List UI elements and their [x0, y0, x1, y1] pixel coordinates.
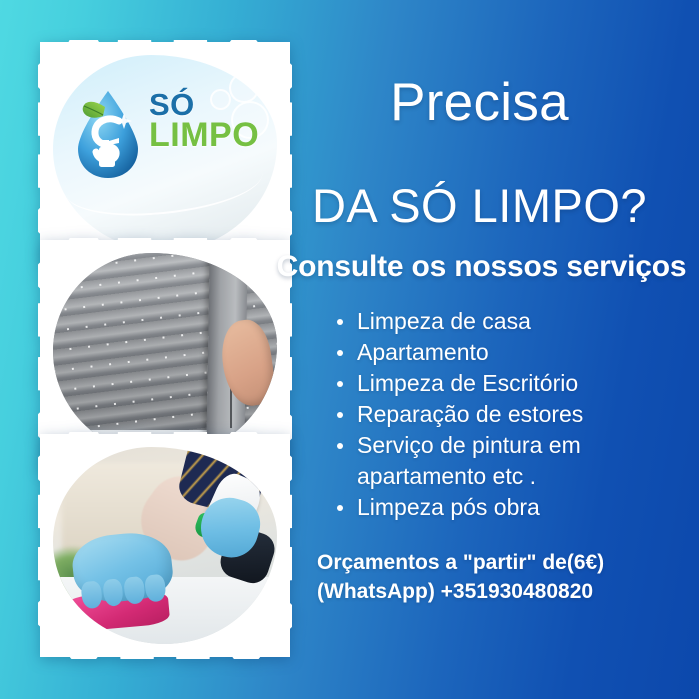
blinds-image	[53, 253, 277, 457]
subtitle: Consulte os nossos serviços	[270, 250, 693, 284]
gloves-card	[40, 434, 290, 657]
logo-text-limpo: LIMPO	[149, 120, 259, 151]
list-item: Serviço de pintura em apartamento etc .	[334, 430, 674, 492]
list-item: Reparação de estores	[334, 399, 674, 430]
list-item: Limpeza pós obra	[334, 492, 674, 523]
contact-block: Orçamentos a "partir" de(6€) (WhatsApp) …	[317, 548, 697, 606]
promotional-poster: SÓ LIMPO	[0, 0, 699, 699]
droplet-logo-icon	[69, 85, 147, 181]
whatsapp-phone-line[interactable]: (WhatsApp) +351930480820	[317, 577, 697, 606]
price-line: Orçamentos a "partir" de(6€)	[317, 548, 697, 577]
logo-wordmark: SÓ LIMPO	[149, 91, 259, 151]
services-list: Limpeza de casa Apartamento Limpeza de E…	[334, 306, 674, 523]
logo-image: SÓ LIMPO	[53, 55, 277, 251]
list-item: Limpeza de Escritório	[334, 368, 674, 399]
photo-column: SÓ LIMPO	[40, 42, 295, 657]
list-item: Apartamento	[334, 337, 674, 368]
headline-line-1: Precisa	[272, 72, 687, 133]
headline-line-2: DA SÓ LIMPO?	[272, 178, 687, 233]
text-column: Precisa DA SÓ LIMPO? Consulte os nossos …	[272, 0, 699, 699]
cleaning-image	[53, 447, 277, 644]
list-item: Limpeza de casa	[334, 306, 674, 337]
logo-card: SÓ LIMPO	[40, 42, 290, 264]
